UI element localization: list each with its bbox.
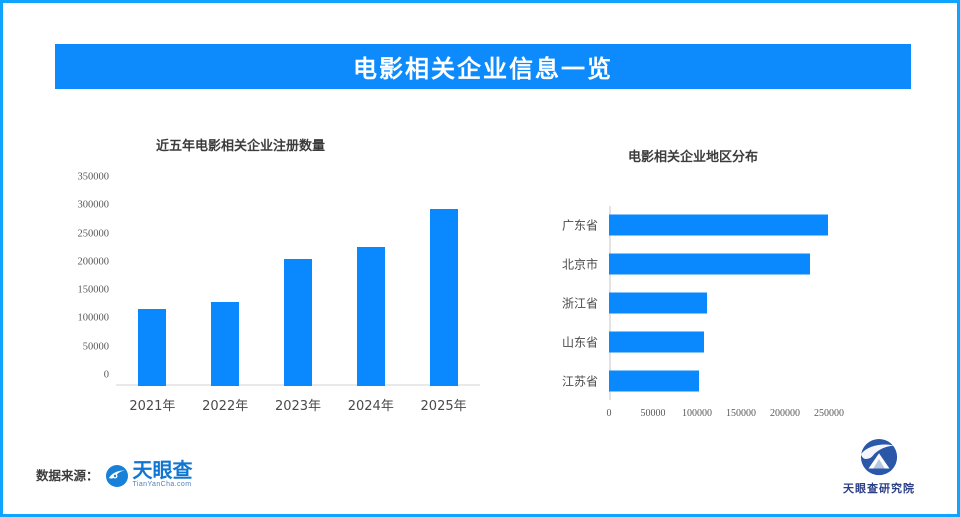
category-label: 浙江省 <box>562 294 598 311</box>
y-axis-tick: 350000 <box>78 172 110 183</box>
bar-浙江省[interactable] <box>609 292 707 313</box>
data-source-footer: 数据来源： 天眼查 TianYanCha.com <box>36 460 193 488</box>
tianyancha-name-en: TianYanCha.com <box>133 481 193 488</box>
y-axis-tick: 50000 <box>83 341 109 352</box>
x-axis-tick: 2021年 <box>129 395 175 414</box>
bar-2021年[interactable] <box>138 309 166 387</box>
bar-group: 2022年 <box>189 188 262 386</box>
right-chart-title: 电影相关企业地区分布 <box>628 146 758 165</box>
category-label: 广东省 <box>562 217 598 234</box>
bar-北京市[interactable] <box>609 254 810 275</box>
tianyancha-logo: 天眼查 TianYanCha.com <box>105 460 193 488</box>
bar-group: 2023年 <box>262 188 335 386</box>
bar-group: 山东省 <box>609 322 829 361</box>
bar-group: 2021年 <box>116 188 189 386</box>
bar-2025年[interactable] <box>430 209 458 386</box>
x-axis-tick: 2022年 <box>202 395 248 414</box>
x-axis-tick: 2025年 <box>421 395 467 414</box>
left-chart-title: 近五年电影相关企业注册数量 <box>156 135 325 154</box>
bar-group: 浙江省 <box>609 284 829 323</box>
x-axis-tick: 50000 <box>641 408 666 419</box>
x-axis-tick: 150000 <box>726 408 756 419</box>
bar-山东省[interactable] <box>609 331 704 352</box>
y-axis-tick: 150000 <box>78 285 110 296</box>
bar-group: 广东省 <box>609 206 829 245</box>
x-axis-tick: 250000 <box>814 408 844 419</box>
category-label: 北京市 <box>562 256 598 273</box>
bar-2023年[interactable] <box>284 259 312 386</box>
bar-group: 北京市 <box>609 245 829 284</box>
bar-广东省[interactable] <box>609 215 828 236</box>
horizontal-bar-plot-area: 广东省北京市浙江省山东省江苏省 050000100000150000200000… <box>609 206 829 400</box>
tianyancha-wordmark: 天眼查 TianYanCha.com <box>133 460 193 488</box>
tianyancha-eye-icon <box>105 464 129 488</box>
bar-group: 2024年 <box>334 188 407 386</box>
y-axis-tick: 100000 <box>78 313 110 324</box>
bar-2022年[interactable] <box>211 302 239 386</box>
data-source-label: 数据来源： <box>36 465 99 484</box>
bar-2024年[interactable] <box>357 247 385 386</box>
y-axis-tick: 250000 <box>78 228 110 239</box>
x-axis-tick: 2024年 <box>348 395 394 414</box>
chart-panel-registrations: 近五年电影相关企业注册数量 35000030000025000020000015… <box>43 113 503 423</box>
category-label: 山东省 <box>562 333 598 350</box>
tianyancha-research-institute-icon <box>856 438 902 478</box>
category-label: 江苏省 <box>562 372 598 389</box>
y-axis-tick: 300000 <box>78 200 110 211</box>
infographic-poster: 电影相关企业信息一览 近五年电影相关企业注册数量 350000300000250… <box>0 0 960 517</box>
title-banner: 电影相关企业信息一览 <box>55 44 911 89</box>
y-axis-tick: 0 <box>104 370 109 381</box>
y-axis-tick: 200000 <box>78 256 110 267</box>
x-axis-tick: 100000 <box>682 408 712 419</box>
research-institute-name: 天眼查研究院 <box>843 480 915 496</box>
x-axis-tick: 200000 <box>770 408 800 419</box>
bar-江苏省[interactable] <box>609 370 699 391</box>
x-axis-tick: 0 <box>607 408 612 419</box>
research-institute-brand: 天眼查研究院 <box>836 438 922 496</box>
page-title: 电影相关企业信息一览 <box>353 49 613 84</box>
tianyancha-name-cn: 天眼查 <box>133 460 193 480</box>
vertical-bar-plot-area: 3500003000002500002000001500001000005000… <box>116 188 480 386</box>
bar-group: 江苏省 <box>609 361 829 400</box>
chart-panel-regions: 电影相关企业地区分布 广东省北京市浙江省山东省江苏省 0500001000001… <box>513 113 933 423</box>
x-axis-tick: 2023年 <box>275 395 321 414</box>
bar-group: 2025年 <box>407 188 480 386</box>
